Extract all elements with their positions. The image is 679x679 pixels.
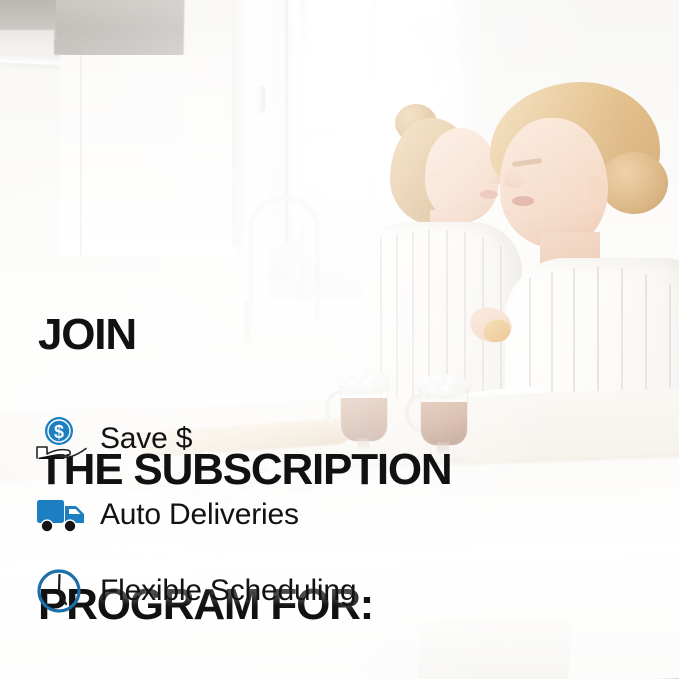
hand-holding-coin-icon: $ [34,414,92,464]
promo-banner: JOIN THE SUBSCRIPTION PROGRAM FOR: $ Sav… [0,0,679,679]
benefit-label-save: Save $ [100,422,192,456]
benefit-label-auto-deliveries: Auto Deliveries [100,498,299,532]
delivery-truck-icon [34,490,92,540]
benefit-item-save: $ Save $ [34,414,356,464]
clock-icon [34,566,92,616]
benefit-item-auto-deliveries: Auto Deliveries [34,490,356,540]
svg-text:$: $ [54,422,64,442]
benefits-list: $ Save $ Auto Deliveries [34,414,356,616]
headline-line-1: JOIN [38,312,452,357]
benefit-label-flexible-scheduling: Flexible Scheduling [100,574,356,608]
benefit-item-flexible-scheduling: Flexible Scheduling [34,566,356,616]
